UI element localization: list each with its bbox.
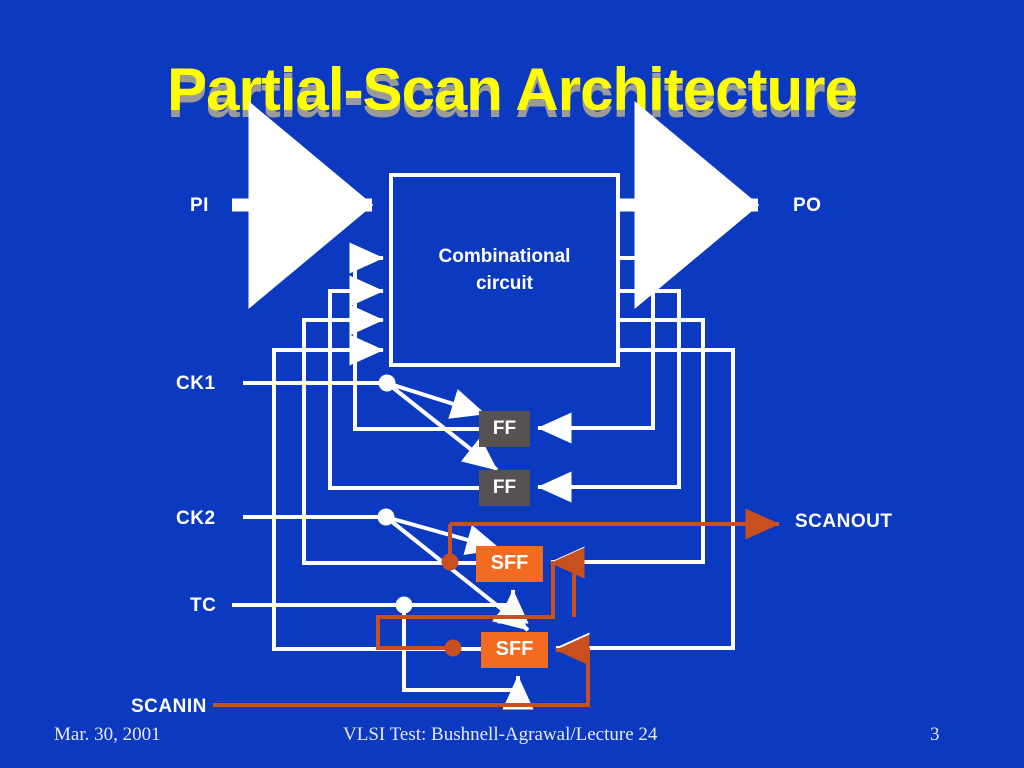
tc-junction-dot <box>396 597 413 614</box>
slide-footer: Mar. 30, 2001 VLSI Test: Bushnell-Agrawa… <box>0 724 1024 754</box>
ff2-label: FF <box>479 477 530 499</box>
footer-date: Mar. 30, 2001 <box>54 724 161 746</box>
port-label-ck1: CK1 <box>176 373 216 395</box>
sff2-scanin-dot <box>445 640 462 657</box>
port-label-scanout: SCANOUT <box>795 511 892 533</box>
port-label-pi: PI <box>190 195 209 217</box>
sff1-label: SFF <box>476 552 543 575</box>
port-label-scanin: SCANIN <box>131 696 207 718</box>
path-cc-to-sff2 <box>556 350 733 648</box>
ck1-junction-dot <box>379 375 396 392</box>
footer-page-number: 3 <box>930 724 940 746</box>
port-label-po: PO <box>793 195 821 217</box>
footer-course-text: VLSI Test: Bushnell-Agrawal/Lecture 24 <box>343 724 657 746</box>
port-label-ck2: CK2 <box>176 508 216 530</box>
ck2-junction-dot <box>378 509 395 526</box>
sff2-label: SFF <box>481 638 548 661</box>
sff1-scanin-dot <box>442 554 459 571</box>
slide-canvas: Partial-Scan Architecture Partial-Scan A… <box>0 0 1024 768</box>
ck1-net <box>243 375 497 471</box>
feedback-output-paths <box>538 258 733 648</box>
ff1-label: FF <box>479 418 530 440</box>
combinational-circuit-label: Combinational circuit <box>391 243 618 297</box>
port-label-tc: TC <box>190 595 216 617</box>
feedback-input-paths <box>274 258 481 649</box>
